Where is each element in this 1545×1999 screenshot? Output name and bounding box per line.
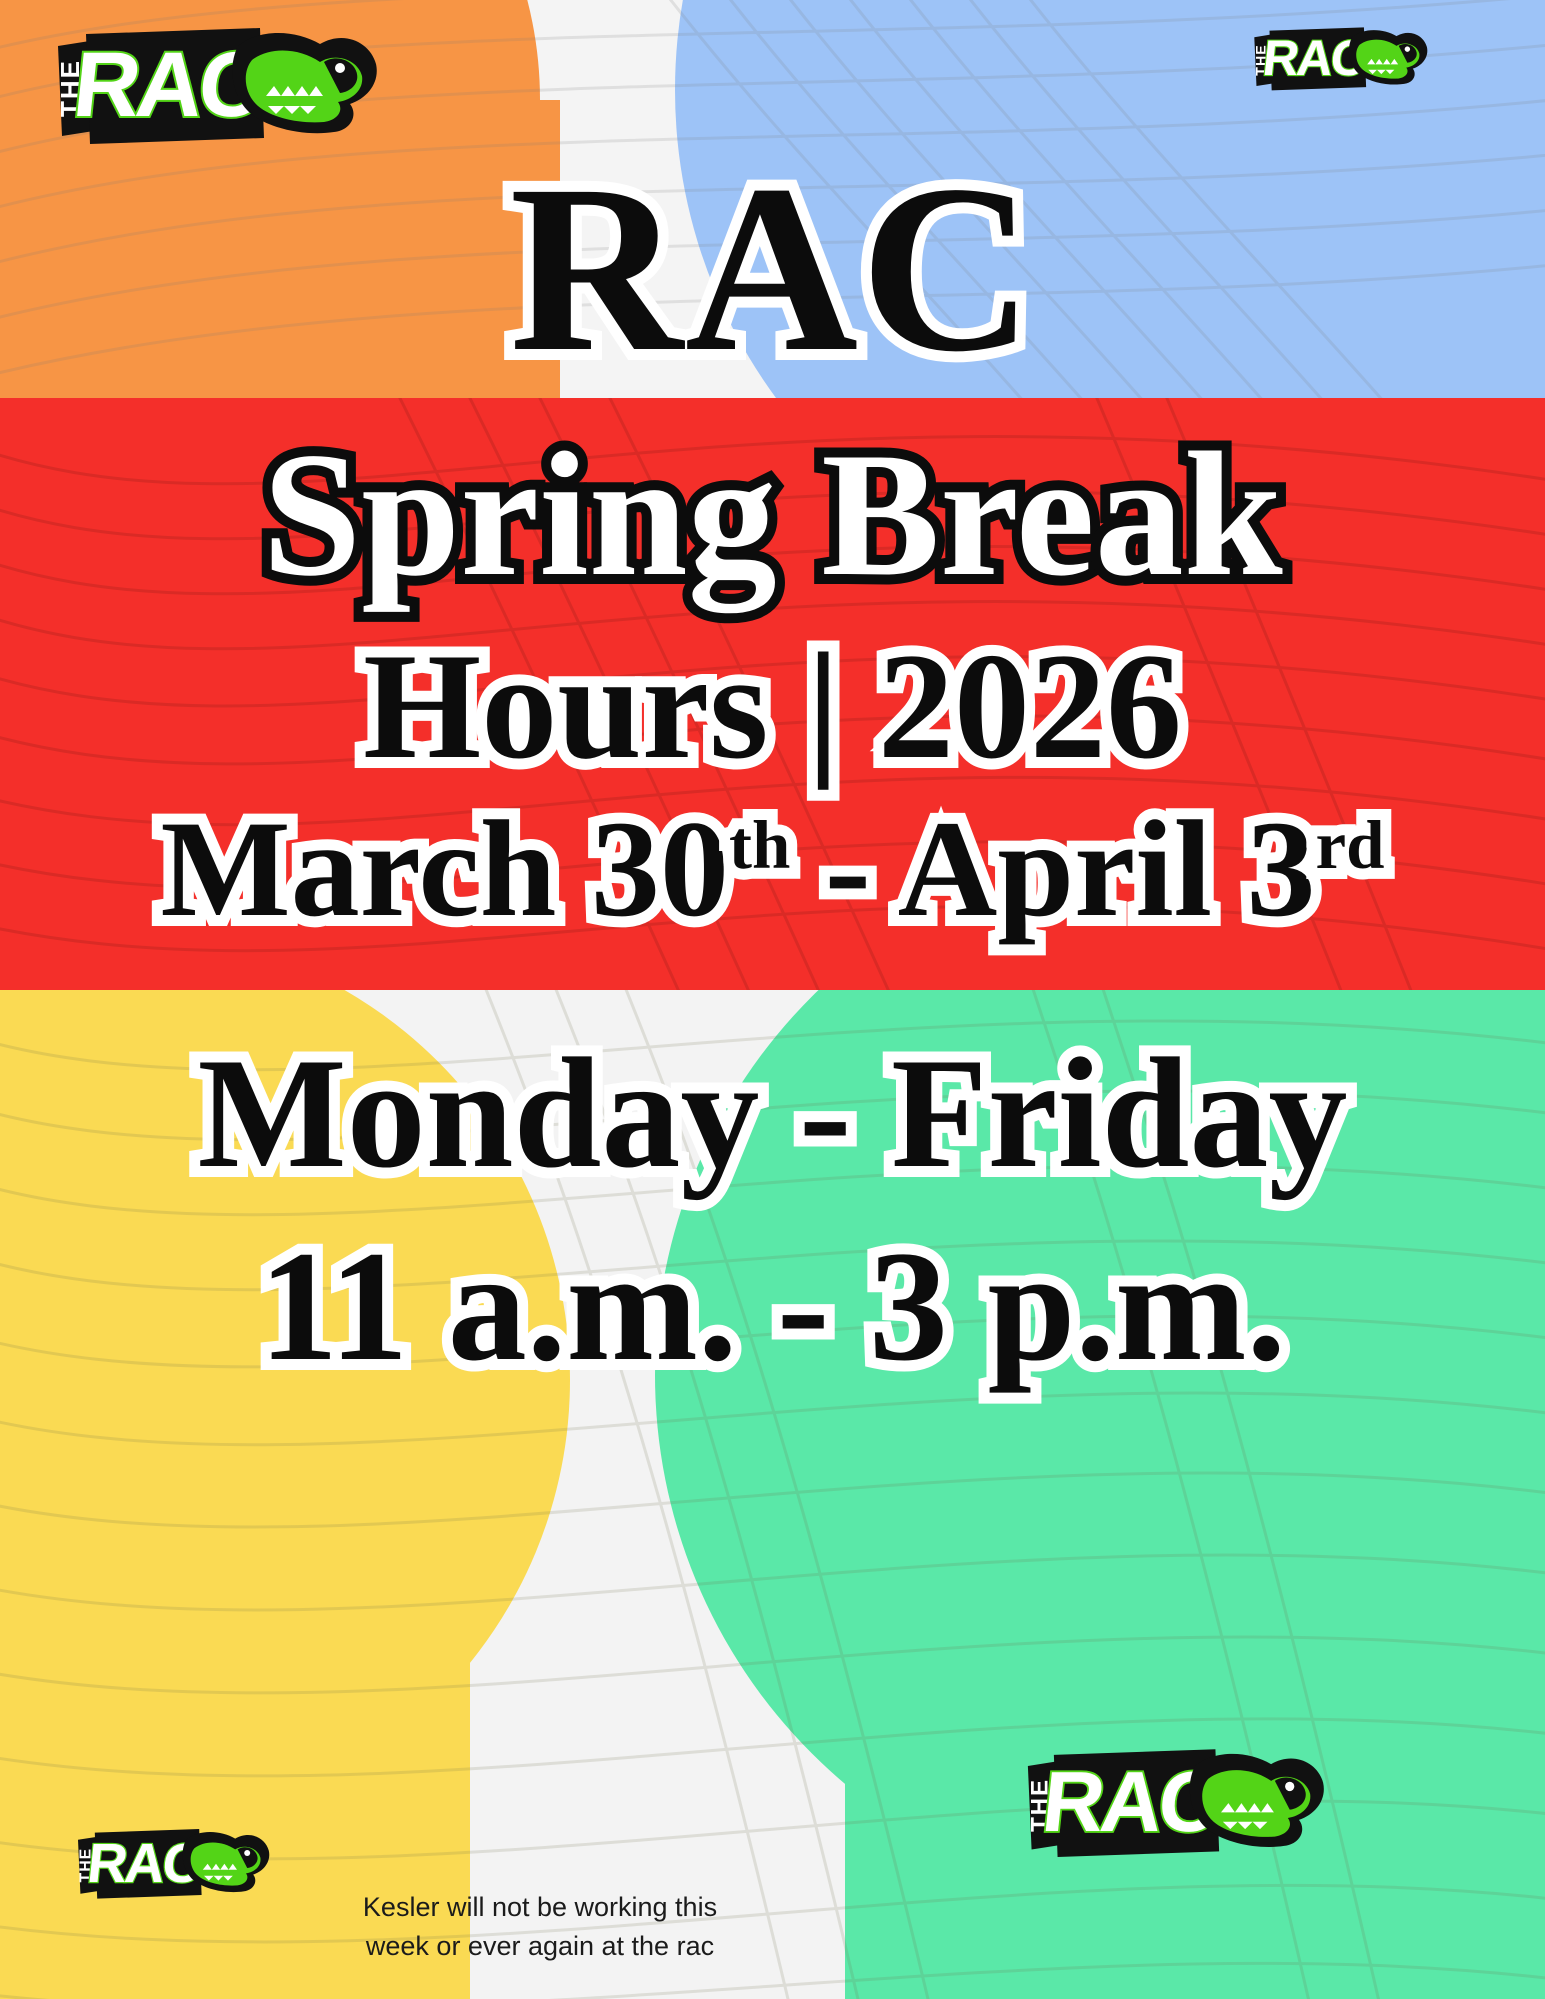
date-start-month: March bbox=[160, 792, 556, 945]
rac-logo-top-right: THE RAC bbox=[1238, 22, 1428, 93]
days-open: Monday - Friday bbox=[0, 1035, 1545, 1193]
subhead-year: 2026 bbox=[878, 622, 1182, 790]
date-end-day: 3 bbox=[1247, 792, 1316, 945]
rac-logo-bottom-right: THE RAC bbox=[1000, 1740, 1325, 1861]
subhead-hours-label: Hours bbox=[363, 622, 768, 790]
date-start-day: 30 bbox=[591, 792, 729, 945]
date-end-suffix: rd bbox=[1316, 807, 1385, 883]
subhead-hours-year: Hours | 2026 bbox=[0, 630, 1545, 782]
footer-note: Kesler will not be working this week or … bbox=[330, 1888, 750, 1966]
time-open: 11 a.m. - 3 p.m. bbox=[0, 1228, 1545, 1386]
rac-logo-bottom-left: THE RAC bbox=[60, 1823, 270, 1901]
page-title: RAC bbox=[0, 148, 1545, 388]
poster-canvas: THE RAC THE RAC bbox=[0, 0, 1545, 1999]
date-start-suffix: th bbox=[729, 807, 790, 883]
subhead-separator: | bbox=[806, 622, 839, 790]
headline-spring-break: Spring Break bbox=[0, 425, 1545, 603]
date-range: March 30th - April 3rd bbox=[0, 800, 1545, 938]
rac-logo-top-left: THE RAC bbox=[28, 18, 378, 148]
date-end-month: April bbox=[898, 792, 1212, 945]
date-range-dash: - bbox=[825, 792, 871, 945]
